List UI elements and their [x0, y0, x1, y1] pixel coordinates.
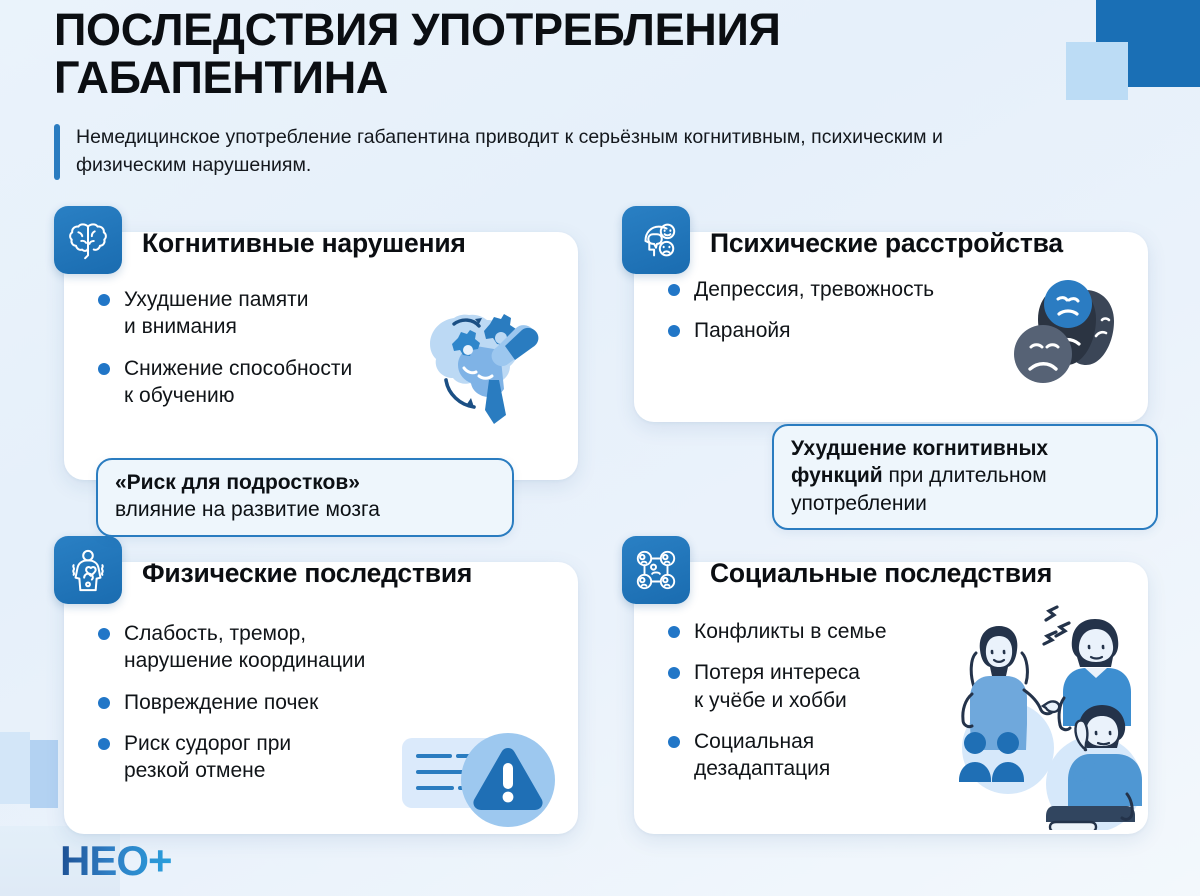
bullet-list-social: Конфликты в семье Потеря интереса к учёб… — [668, 618, 1128, 782]
bullet-text: Потеря интереса к учёбе и хобби — [694, 659, 860, 714]
subtitle-accent-bar — [54, 124, 60, 179]
list-item: Ухудшение памяти и внимания — [98, 286, 558, 341]
bullet-text: Риск судорог при резкой отмене — [124, 730, 291, 785]
bullet-dot-icon — [98, 738, 110, 750]
card-title-cognitive: Когнитивные нарушения — [142, 228, 466, 259]
list-item: Слабость, тремор, нарушение координации — [98, 620, 558, 675]
bullet-list-mental: Депрессия, тревожность Паранойя — [668, 276, 1128, 345]
list-item: Депрессия, тревожность — [668, 276, 1128, 303]
list-item: Снижение способности к обучению — [98, 355, 558, 410]
callout-combined-line: Ухудшение когнитивных функций при длител… — [791, 435, 1139, 517]
callout-bold-line: «Риск для подростков» — [115, 469, 495, 496]
card-title-mental: Психические расстройства — [710, 228, 1063, 259]
bullet-dot-icon — [98, 363, 110, 375]
bottom-left-square-light — [0, 732, 30, 804]
card-title-physical: Физические последствия — [142, 558, 472, 589]
list-item: Риск судорог при резкой отмене — [98, 730, 558, 785]
body-organs-icon — [54, 536, 122, 604]
card-social: Социальные последствия — [634, 562, 1148, 834]
teen-risk-callout: «Риск для подростков» влияние на развити… — [96, 458, 514, 537]
bullet-dot-icon — [668, 667, 680, 679]
brand-logo: НЕО+ — [60, 840, 172, 882]
bullet-text: Снижение способности к обучению — [124, 355, 352, 410]
list-item: Паранойя — [668, 317, 1128, 344]
subtitle-block: Немедицинское употребление габапентина п… — [54, 124, 1054, 179]
card-title-social: Социальные последствия — [710, 558, 1052, 589]
bullet-list-physical: Слабость, тремор, нарушение координации … — [98, 620, 558, 784]
bullet-dot-icon — [98, 628, 110, 640]
bullet-dot-icon — [668, 736, 680, 748]
top-right-square-light — [1066, 42, 1128, 100]
card-physical: Физические последствия Слабость, тремор,… — [64, 562, 578, 834]
header: ПОСЛЕДСТВИЯ УПОТРЕБЛЕНИЯ ГАБАПЕНТИНА Нем… — [54, 6, 1054, 180]
callout-bold-text: «Риск для подростков» — [115, 471, 360, 494]
bottom-left-square-blue — [30, 740, 58, 808]
bullet-dot-icon — [668, 325, 680, 337]
bullet-dot-icon — [668, 284, 680, 296]
bullet-text: Ухудшение памяти и внимания — [124, 286, 309, 341]
list-item: Конфликты в семье — [668, 618, 1128, 645]
bullet-text: Социальная дезадаптация — [694, 728, 830, 783]
page-title: ПОСЛЕДСТВИЯ УПОТРЕБЛЕНИЯ ГАБАПЕНТИНА — [54, 6, 954, 101]
bullet-text: Паранойя — [694, 317, 791, 344]
list-item: Потеря интереса к учёбе и хобби — [668, 659, 1128, 714]
cognitive-decline-callout: Ухудшение когнитивных функций при длител… — [772, 424, 1158, 530]
callout-rest-line: влияние на развитие мозга — [115, 496, 495, 523]
card-mental: Психические расстройства Депрессия, трев… — [634, 232, 1148, 422]
brain-icon — [54, 206, 122, 274]
bullet-list-cognitive: Ухудшение памяти и внимания Снижение спо… — [98, 286, 558, 409]
list-item: Повреждение почек — [98, 689, 558, 716]
bullet-dot-icon — [98, 294, 110, 306]
top-right-square-dark — [1096, 0, 1200, 87]
head-emotions-icon — [622, 206, 690, 274]
bullet-dot-icon — [98, 697, 110, 709]
social-network-icon — [622, 536, 690, 604]
page-subtitle: Немедицинское употребление габапентина п… — [76, 124, 1006, 179]
bullet-dot-icon — [668, 626, 680, 638]
bullet-text: Слабость, тремор, нарушение координации — [124, 620, 365, 675]
card-cognitive: Когнитивные нарушения Ух — [64, 232, 578, 480]
list-item: Социальная дезадаптация — [668, 728, 1128, 783]
bullet-text: Конфликты в семье — [694, 618, 887, 645]
bullet-text: Депрессия, тревожность — [694, 276, 934, 303]
bullet-text: Повреждение почек — [124, 689, 318, 716]
